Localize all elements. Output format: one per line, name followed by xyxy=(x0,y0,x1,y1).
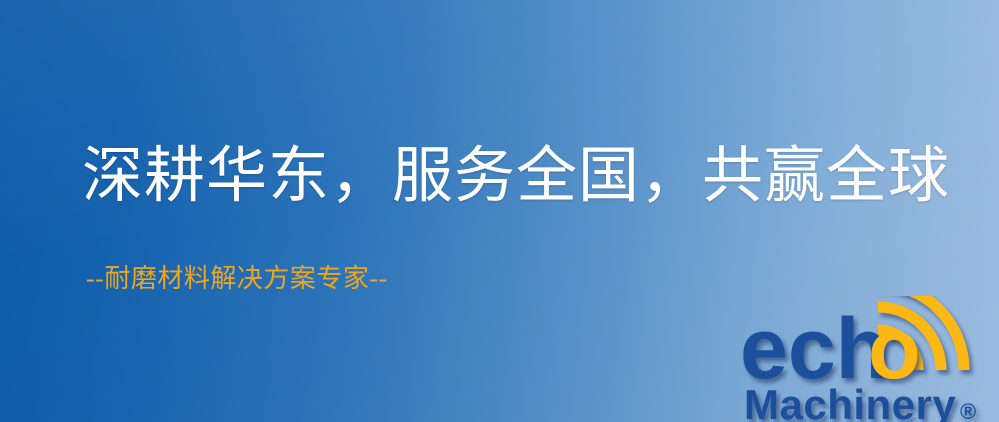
banner-subtitle: --耐磨材料解决方案专家-- xyxy=(86,266,388,292)
echo-machinery-logo: ech o Machinery ® xyxy=(742,296,999,422)
logo-tagline: Machinery xyxy=(744,381,956,422)
promo-banner: 深耕华东，服务全国，共赢全球 --耐磨材料解决方案专家-- ech o xyxy=(0,0,999,422)
logo-graphic: ech o Machinery ® xyxy=(742,296,999,422)
page-title: 深耕华东，服务全国，共赢全球 xyxy=(82,146,950,207)
registered-trademark-icon: ® xyxy=(960,399,976,422)
